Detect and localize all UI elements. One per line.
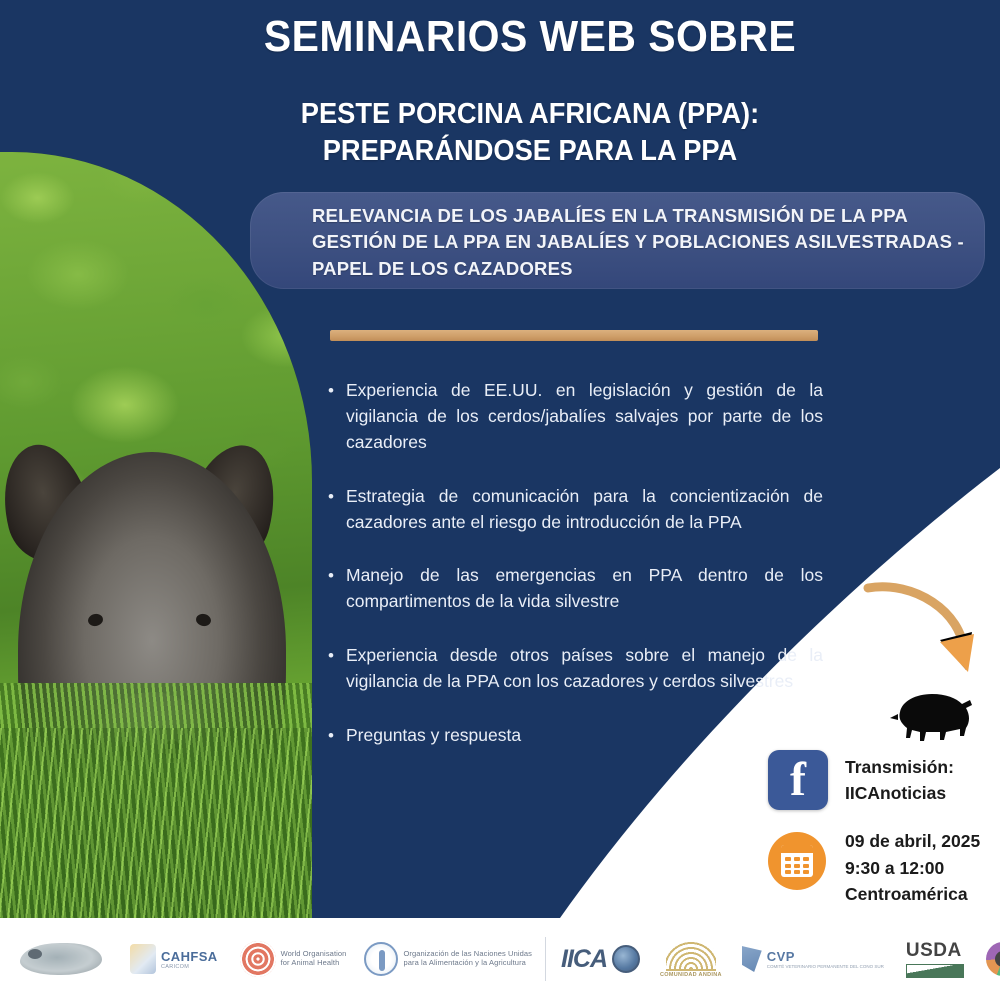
cvp-subtext: COMITÉ VETERINARIO PERMANENTE DEL CONO S… xyxy=(767,964,884,969)
woah-logo: World Organisation for Animal Health xyxy=(240,941,347,977)
schedule-timezone: Centroamérica xyxy=(845,881,980,908)
comunidad-andina-logo: COMUNIDAD ANDINA xyxy=(660,941,722,978)
iica-wordmark: IICA xyxy=(561,945,607,974)
schedule-info: 09 de abril, 2025 9:30 a 12:00 Centroamé… xyxy=(845,828,980,908)
broadcast-info: Transmisión: IICAnoticias xyxy=(845,754,954,807)
wild-boar-silhouette-icon xyxy=(886,688,982,750)
iica-logo: IICA xyxy=(561,945,640,974)
page-subtitle: PESTE PORCINA AFRICANA (PPA): PREPARÁNDO… xyxy=(173,96,887,170)
senasica-logo xyxy=(986,942,1000,976)
cvp-mark-icon xyxy=(742,946,762,972)
usda-field-icon xyxy=(906,964,964,978)
senasica-mark-icon xyxy=(986,942,1000,976)
cahfsa-subtext: CARICOM xyxy=(161,964,218,970)
broadcast-channel: IICAnoticias xyxy=(845,780,954,806)
bullet-marker-icon: • xyxy=(328,563,346,615)
woah-line-2: for Animal Health xyxy=(281,959,347,968)
usda-logo: USDA xyxy=(906,940,964,978)
bullet-marker-icon: • xyxy=(328,484,346,536)
accent-divider xyxy=(330,330,818,341)
sponsor-logo-bar: CAHFSA CARICOM World Organisation for An… xyxy=(0,918,1000,1000)
logo-divider xyxy=(545,937,546,981)
cvp-wordmark: CVP xyxy=(767,949,884,964)
list-item: • Estrategia de comunicación para la con… xyxy=(328,484,823,536)
curved-arrow-icon xyxy=(862,578,982,686)
list-item-text: Preguntas y respuesta xyxy=(346,723,823,749)
fao-line-2: para la Alimentación y la Agricultura xyxy=(403,959,532,968)
bullet-marker-icon: • xyxy=(328,723,346,749)
calendar-glyph xyxy=(781,845,813,877)
calendar-icon xyxy=(768,832,826,890)
bullet-marker-icon: • xyxy=(328,378,346,456)
list-item-text: Manejo de las emergencias en PPA dentro … xyxy=(346,563,823,615)
list-item-text: Experiencia de EE.UU. en legislación y g… xyxy=(346,378,823,456)
list-item-text: Estrategia de comunicación para la conci… xyxy=(346,484,823,536)
schedule-time: 9:30 a 12:00 xyxy=(845,855,980,882)
cvp-logo: CVP COMITÉ VETERINARIO PERMANENTE DEL CO… xyxy=(742,946,884,972)
cahfsa-logo: CAHFSA CARICOM xyxy=(130,944,218,974)
caricom-mark-icon xyxy=(20,943,102,975)
fao-text: Organización de las Naciones Unidas para… xyxy=(403,950,532,967)
cahfsa-wordmark: CAHFSA xyxy=(161,949,218,964)
page-subtitle-line-1: PESTE PORCINA AFRICANA (PPA): xyxy=(173,96,887,133)
facebook-icon[interactable]: f xyxy=(768,750,828,810)
caricom-logo xyxy=(20,943,102,975)
list-item: • Manejo de las emergencias en PPA dentr… xyxy=(328,563,823,615)
schedule-date: 09 de abril, 2025 xyxy=(845,828,980,855)
fao-mark-icon xyxy=(364,942,398,976)
list-item: • Experiencia de EE.UU. en legislación y… xyxy=(328,378,823,456)
grass-blades xyxy=(0,728,312,918)
fao-logo: Organización de las Naciones Unidas para… xyxy=(364,942,532,976)
facebook-glyph: f xyxy=(768,750,828,810)
comunidad-andina-mark-icon xyxy=(666,941,716,971)
iica-globe-icon xyxy=(612,945,640,973)
woah-text: World Organisation for Animal Health xyxy=(281,950,347,967)
webinar-poster: SEMINARIOS WEB SOBRE PESTE PORCINA AFRIC… xyxy=(0,0,1000,1000)
list-item: • Preguntas y respuesta xyxy=(328,723,823,749)
topic-banner-text: RELEVANCIA DE LOS JABALÍES EN LA TRANSMI… xyxy=(312,203,972,282)
calendar-header xyxy=(781,845,813,853)
list-item-text: Experiencia desde otros países sobre el … xyxy=(346,643,823,695)
woah-mark-icon xyxy=(240,941,276,977)
broadcast-label: Transmisión: xyxy=(845,754,954,780)
bullet-marker-icon: • xyxy=(328,643,346,695)
cahfsa-mark-icon xyxy=(130,944,156,974)
page-title: SEMINARIOS WEB SOBRE xyxy=(177,14,884,61)
comunidad-andina-wordmark: COMUNIDAD ANDINA xyxy=(660,972,722,978)
usda-wordmark: USDA xyxy=(906,940,962,962)
agenda-list: • Experiencia de EE.UU. en legislación y… xyxy=(328,378,823,777)
list-item: • Experiencia desde otros países sobre e… xyxy=(328,643,823,695)
calendar-grid xyxy=(781,853,813,877)
page-subtitle-line-2: PREPARÁNDOSE PARA LA PPA xyxy=(173,133,887,170)
